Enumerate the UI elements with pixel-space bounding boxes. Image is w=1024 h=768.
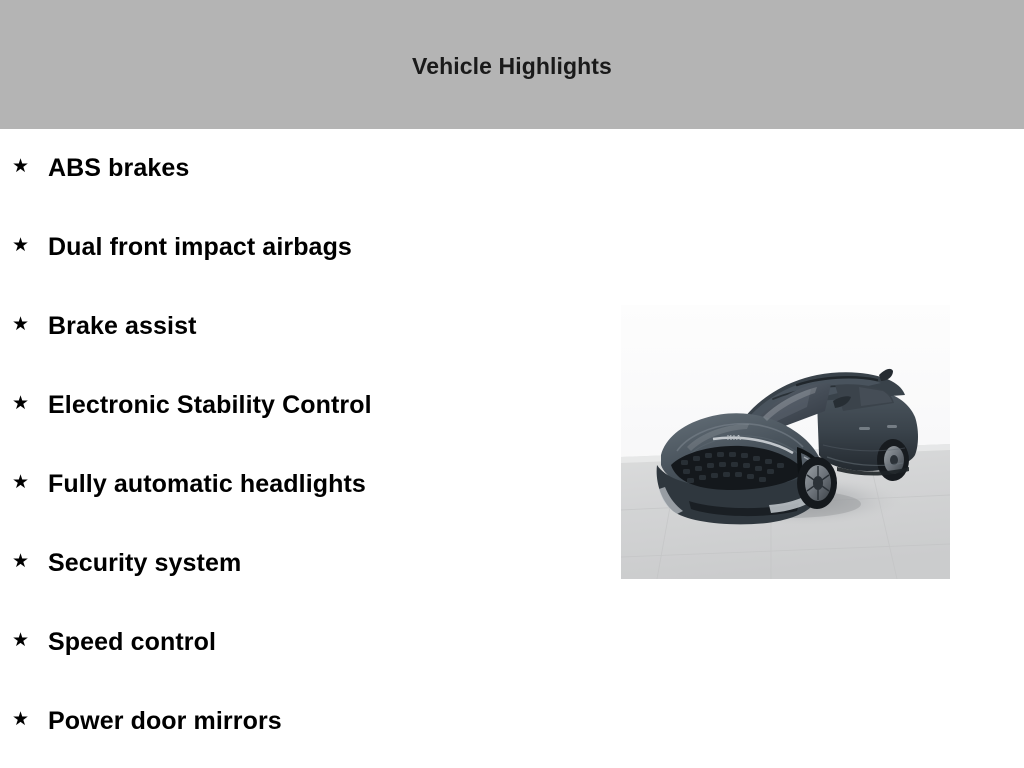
highlight-label: Brake assist (48, 312, 197, 341)
content-area: ★ ABS brakes ★ Dual front impact airbags… (0, 129, 1024, 768)
highlight-label: Security system (48, 549, 241, 578)
list-item: ★ Brake assist (0, 287, 600, 366)
list-item: ★ Fully automatic headlights (0, 445, 600, 524)
vehicle-highlights-list: ★ ABS brakes ★ Dual front impact airbags… (0, 129, 600, 761)
vehicle-photo: KIA (621, 305, 950, 579)
highlight-label: Speed control (48, 628, 216, 657)
star-bullet-icon: ★ (12, 552, 34, 571)
star-bullet-icon: ★ (12, 710, 34, 729)
vehicle-photo-image: KIA (621, 305, 950, 579)
highlight-label: ABS brakes (48, 154, 189, 183)
star-bullet-icon: ★ (12, 315, 34, 334)
star-bullet-icon: ★ (12, 394, 34, 413)
list-item: ★ ABS brakes (0, 129, 600, 208)
highlight-label: Fully automatic headlights (48, 470, 366, 499)
star-bullet-icon: ★ (12, 473, 34, 492)
list-item: ★ Power door mirrors (0, 682, 600, 761)
svg-text:KIA: KIA (727, 435, 742, 442)
highlight-label: Dual front impact airbags (48, 233, 352, 262)
header-bar: Vehicle Highlights (0, 0, 1024, 129)
star-bullet-icon: ★ (12, 236, 34, 255)
highlight-label: Electronic Stability Control (48, 391, 372, 420)
page-title: Vehicle Highlights (0, 52, 1024, 80)
star-bullet-icon: ★ (12, 157, 34, 176)
list-item: ★ Electronic Stability Control (0, 366, 600, 445)
highlight-label: Power door mirrors (48, 707, 282, 736)
list-item: ★ Security system (0, 524, 600, 603)
list-item: ★ Speed control (0, 603, 600, 682)
star-bullet-icon: ★ (12, 631, 34, 650)
list-item: ★ Dual front impact airbags (0, 208, 600, 287)
